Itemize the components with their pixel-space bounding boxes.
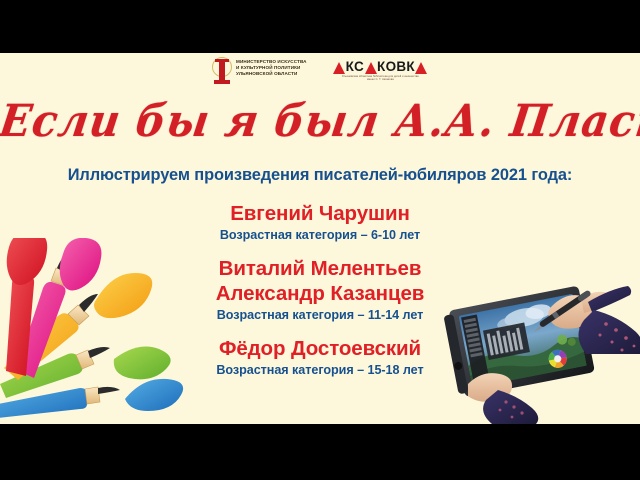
- triangle-a-icon: [415, 62, 427, 74]
- author-name: Виталий Мелентьев: [0, 256, 640, 281]
- age-category-label: Возрастная категория – 11-14 лет: [0, 307, 640, 324]
- ksakovka-logo: КСКОВК Ульяновская областная библиотека …: [333, 56, 428, 82]
- ksakovka-wordmark: КСКОВК: [333, 60, 428, 74]
- author-group-charushin: Евгений Чарушин Возрастная категория – 6…: [0, 201, 640, 244]
- ministry-line-3: УЛЬЯНОВСКОЙ ОБЛАСТИ: [236, 71, 307, 77]
- triangle-a-icon: [333, 62, 345, 74]
- ministry-logo-text: МИНИСТЕРСТВО ИСКУССТВА И КУЛЬТУРНОЙ ПОЛИ…: [236, 56, 307, 78]
- ksakovka-part-1: КС: [346, 60, 364, 74]
- poster-headline: Если бы я был А.А. Пластовым: [0, 95, 640, 147]
- age-category-label: Возрастная категория – 15-18 лет: [0, 362, 640, 379]
- ksakovka-part-2: КОВК: [377, 60, 415, 74]
- ministry-logo: МИНИСТЕРСТВО ИСКУССТВА И КУЛЬТУРНОЙ ПОЛИ…: [212, 56, 307, 86]
- author-name: Фёдор Достоевский: [0, 336, 640, 361]
- ksakovka-subtitle-line-2: имени С. Т. Аксакова: [342, 78, 419, 81]
- author-group-melentyev-kazantsev: Виталий Мелентьев Александр Казанцев Воз…: [0, 256, 640, 324]
- poster-subtitle: Иллюстрируем произведения писателей-юбил…: [0, 166, 640, 185]
- author-category-list: Евгений Чарушин Возрастная категория – 6…: [0, 201, 640, 379]
- triangle-a-icon: [365, 62, 377, 74]
- letterbox-top: [0, 0, 640, 53]
- poster-frame: МИНИСТЕРСТВО ИСКУССТВА И КУЛЬТУРНОЙ ПОЛИ…: [0, 0, 640, 480]
- author-name: Евгений Чарушин: [0, 201, 640, 226]
- headline-text: Если бы я был А.А. Пластовым: [0, 93, 640, 149]
- poster-stage: МИНИСТЕРСТВО ИСКУССТВА И КУЛЬТУРНОЙ ПОЛИ…: [0, 53, 640, 424]
- logo-strip: МИНИСТЕРСТВО ИСКУССТВА И КУЛЬТУРНОЙ ПОЛИ…: [0, 56, 640, 96]
- author-name: Александр Казанцев: [0, 281, 640, 306]
- ksakovka-subtitle: Ульяновская областная библиотека для дет…: [342, 75, 419, 82]
- letterbox-bottom: [0, 424, 640, 480]
- author-group-dostoevsky: Фёдор Достоевский Возрастная категория –…: [0, 336, 640, 379]
- column-emblem-icon: [212, 56, 232, 86]
- age-category-label: Возрастная категория – 6-10 лет: [0, 227, 640, 244]
- subtitle-text: Иллюстрируем произведения писателей-юбил…: [68, 166, 573, 184]
